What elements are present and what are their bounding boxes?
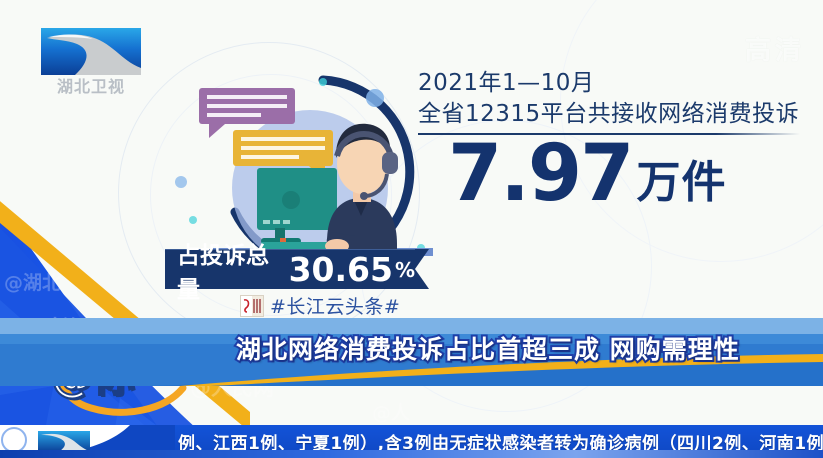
big-number-value: 7.97 <box>448 137 632 211</box>
infographic-text-block: 2021年1—10月 全省12315平台共接收网络消费投诉 7.97 万件 <box>418 68 808 211</box>
river-swoosh-icon <box>41 28 141 75</box>
tv-broadcast-frame: 湖北卫视 高清 <box>0 0 823 458</box>
watermark-ren: @人 <box>372 398 410 425</box>
hashtag-row: #长江云头条# <box>240 292 400 319</box>
period-line: 2021年1—10月 <box>418 68 808 98</box>
ticker-base-strip <box>0 450 823 458</box>
percent-value: 30.65 <box>289 253 393 286</box>
channel-logo: 湖北卫视 <box>38 28 150 102</box>
subject-line: 全省12315平台共接收网络消费投诉 <box>418 98 808 130</box>
headline-text: 湖北网络消费投诉占比首超三成 网购需理性 <box>236 330 823 366</box>
percent-banner-tail <box>415 249 429 289</box>
percent-sign: % <box>395 258 415 282</box>
big-number-unit: 万件 <box>636 161 726 205</box>
hd-watermark: 高清 <box>745 30 805 67</box>
channel-logo-mark <box>41 28 141 75</box>
percent-banner-body: 占投诉总量 30.65 % <box>165 249 415 289</box>
changjiangyun-logo-icon <box>240 295 264 317</box>
watermark-hubei: @湖北 <box>4 268 61 295</box>
channel-logo-text: 湖北卫视 <box>38 76 144 98</box>
hashtag-text: #长江云头条# <box>270 292 400 319</box>
big-stat-row: 7.97 万件 <box>418 137 808 211</box>
